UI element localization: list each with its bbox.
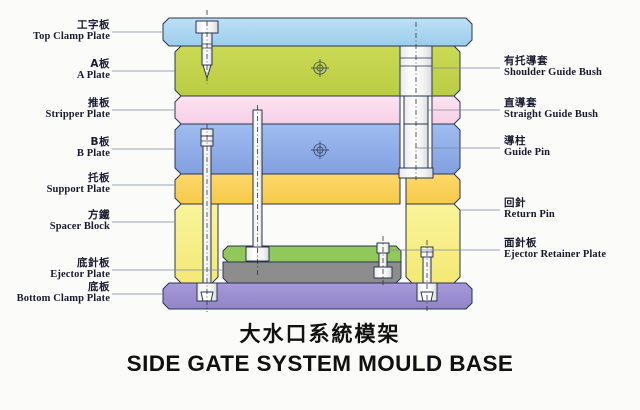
diagram-title: 大水口系統模架 SIDE GATE SYSTEM MOULD BASE [0, 318, 640, 377]
label-shoulder-guide-bush: 有托導套 Shoulder Guide Bush [504, 56, 602, 78]
label-bottom-clamp-plate: 底板 Bottom Clamp Plate [17, 282, 110, 304]
label-ejector-plate: 底針板 Ejector Plate [50, 258, 110, 280]
title-english: SIDE GATE SYSTEM MOULD BASE [0, 351, 640, 377]
label-spacer-block: 方鐵 Spacer Block [50, 210, 110, 232]
label-top-clamp-plate: 工字板 Top Clamp Plate [33, 20, 110, 42]
label-ejector-retainer-plate: 面針板 Ejector Retainer Plate [504, 238, 606, 260]
label-support-plate: 托板 Support Plate [47, 173, 110, 195]
mould-base-diagram: .ol{stroke:#2a3550;stroke-width:1;stroke… [0, 0, 640, 410]
spacer-block-right [406, 204, 460, 283]
label-stripper-plate: 推板 Stripper Plate [46, 98, 111, 120]
label-b-plate: B板 B Plate [77, 137, 110, 159]
label-return-pin: 回針 Return Pin [504, 198, 555, 220]
spacer-block-left [175, 204, 218, 283]
label-a-plate: A板 A Plate [77, 59, 110, 81]
label-guide-pin: 導柱 Guide Pin [504, 136, 550, 158]
label-straight-guide-bush: 直導套 Straight Guide Bush [504, 98, 598, 120]
title-chinese: 大水口系統模架 [0, 318, 640, 348]
guide-pin-assembly [399, 22, 433, 180]
